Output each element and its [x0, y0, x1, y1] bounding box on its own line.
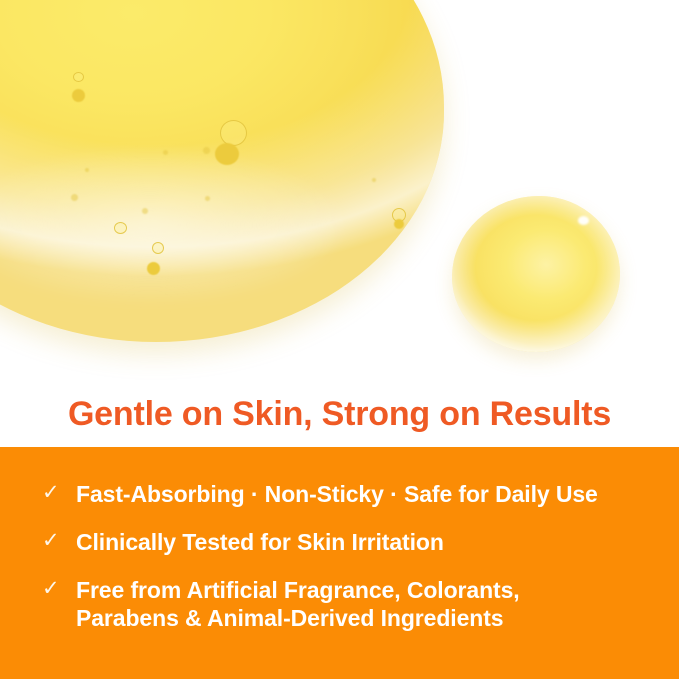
oil-bubble [147, 262, 160, 275]
oil-bubble [215, 143, 239, 165]
oil-bubble [72, 89, 85, 102]
claim-line: Fast-Absorbing · Non-Sticky · Safe for D… [76, 481, 598, 507]
claim-item: ✓ Clinically Tested for Skin Irritation [0, 528, 679, 556]
hero-image [0, 0, 679, 447]
oil-bubble [220, 120, 247, 146]
oil-droplet-highlight [578, 216, 589, 225]
oil-bubble [205, 196, 210, 201]
check-icon: ✓ [42, 528, 76, 554]
oil-bubble [142, 208, 148, 214]
claim-item: ✓ Fast-Absorbing · Non-Sticky · Safe for… [0, 480, 679, 508]
oil-droplet-small-rim [452, 196, 620, 352]
claim-line: Free from Artificial Fragrance, Colorant… [76, 577, 520, 603]
oil-bubble [394, 219, 404, 229]
claims-list: ✓ Fast-Absorbing · Non-Sticky · Safe for… [0, 447, 679, 652]
claim-text: Fast-Absorbing · Non-Sticky · Safe for D… [76, 480, 679, 508]
check-icon: ✓ [42, 576, 76, 602]
product-feature-card: Gentle on Skin, Strong on Results ✓ Fast… [0, 0, 679, 679]
oil-bubble [73, 72, 84, 82]
oil-bubble [152, 242, 164, 254]
oil-bubble [71, 194, 78, 201]
oil-bubble [85, 168, 89, 172]
claim-text: Free from Artificial Fragrance, Colorant… [76, 576, 679, 632]
check-icon: ✓ [42, 480, 76, 506]
claim-line: Clinically Tested for Skin Irritation [76, 529, 444, 555]
headline-text: Gentle on Skin, Strong on Results [68, 395, 611, 434]
oil-bubble [372, 178, 376, 182]
oil-bubble [203, 147, 210, 154]
headline-area: Gentle on Skin, Strong on Results [0, 381, 679, 447]
claim-line: Parabens & Animal-Derived Ingredients [76, 605, 503, 631]
claim-item: ✓ Free from Artificial Fragrance, Colora… [0, 576, 679, 632]
oil-bubble [114, 222, 127, 234]
claim-text: Clinically Tested for Skin Irritation [76, 528, 679, 556]
claims-band: ✓ Fast-Absorbing · Non-Sticky · Safe for… [0, 447, 679, 679]
oil-bubble [163, 150, 168, 155]
